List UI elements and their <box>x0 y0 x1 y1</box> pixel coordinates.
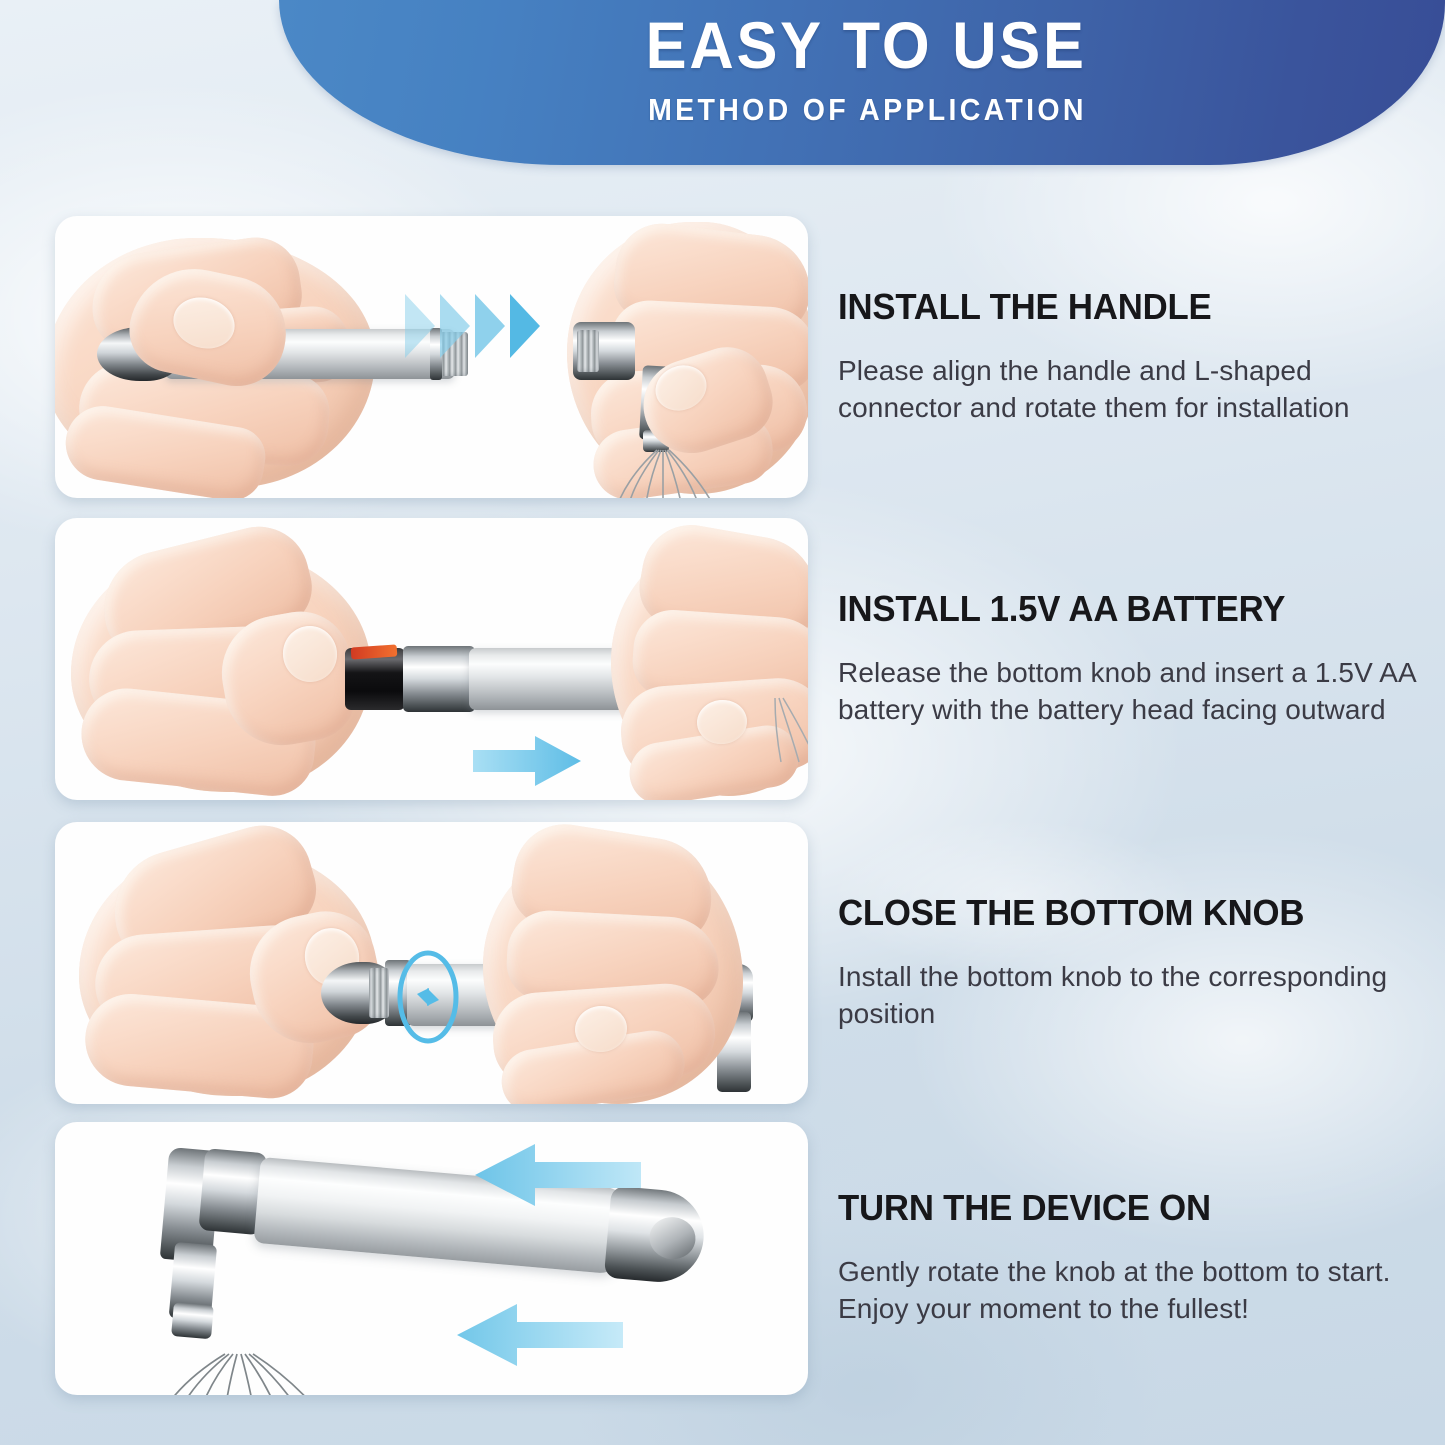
step-body-3-line-1: Install the bottom knob to the correspon… <box>838 958 1428 1032</box>
step-body-1-line-1: Please align the handle and L-shaped con… <box>838 352 1428 426</box>
whisk-head <box>595 448 755 498</box>
step-body-4-line-2: Enjoy your moment to the fullest! <box>838 1290 1428 1327</box>
arrow-right-icon <box>473 734 583 793</box>
arrow-left-icon-secondary <box>455 1302 625 1373</box>
step-image-panel-4 <box>55 1122 808 1395</box>
step-body-4-line-1: Gently rotate the knob at the bottom to … <box>838 1253 1428 1290</box>
battery-collar <box>403 646 475 712</box>
page-subtitle: METHOD OF APPLICATION <box>648 94 1087 125</box>
step-heading-3: CLOSE THE BOTTOM KNOB <box>838 894 1407 932</box>
step-image-panel-3 <box>55 822 808 1104</box>
step-body-2-line-1: Release the bottom knob and insert a 1.5… <box>838 654 1428 728</box>
step-text-4: TURN THE DEVICE ON Gently rotate the kno… <box>838 1122 1428 1395</box>
photo-close-knob <box>55 822 808 1104</box>
step-text-3: CLOSE THE BOTTOM KNOB Install the bottom… <box>838 822 1428 1104</box>
step-heading-1: INSTALL THE HANDLE <box>838 288 1407 326</box>
step-heading-4: TURN THE DEVICE ON <box>838 1189 1407 1227</box>
connector-thread <box>577 330 599 372</box>
step-heading-2: INSTALL 1.5V AA BATTERY <box>838 590 1407 628</box>
whisk-head <box>143 1354 393 1395</box>
step-close-bottom-knob: CLOSE THE BOTTOM KNOB Install the bottom… <box>0 822 1445 1104</box>
step-text-1: INSTALL THE HANDLE Please align the hand… <box>838 216 1428 498</box>
page-title: EASY TO USE <box>645 12 1086 78</box>
device-ferrule <box>171 1302 214 1339</box>
step-install-the-handle: INSTALL THE HANDLE Please align the hand… <box>0 216 1445 498</box>
step-image-panel-2 <box>55 518 808 800</box>
rotate-icon <box>373 942 483 1057</box>
photo-turn-on <box>55 1122 808 1395</box>
header-banner: EASY TO USE METHOD OF APPLICATION <box>279 0 1445 165</box>
arrow-left-icon <box>473 1142 643 1213</box>
step-image-panel-1 <box>55 216 808 498</box>
step-text-2: INSTALL 1.5V AA BATTERY Release the bott… <box>838 518 1428 800</box>
photo-install-battery <box>55 518 808 800</box>
step-install-battery: INSTALL 1.5V AA BATTERY Release the bott… <box>0 518 1445 800</box>
photo-install-handle <box>55 216 808 498</box>
whisk-head <box>767 696 808 762</box>
step-turn-device-on: TURN THE DEVICE ON Gently rotate the kno… <box>0 1122 1445 1395</box>
